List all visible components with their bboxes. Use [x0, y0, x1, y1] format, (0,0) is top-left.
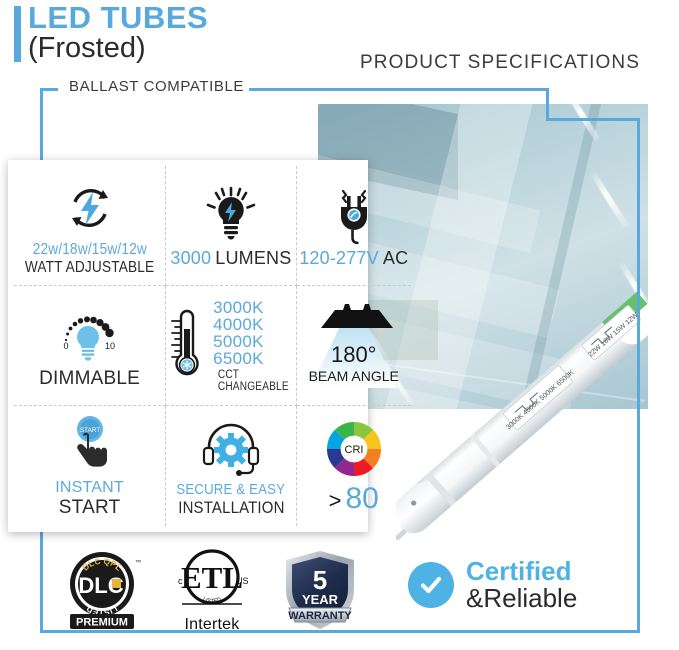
lumens-value: 3000: [170, 248, 211, 269]
installation-line2: INSTALLATION: [178, 498, 284, 518]
etl-intertek-badge: ETL c US LISTED Intertek: [166, 548, 258, 632]
beam-angle-icon: 180° BEAM ANGLE: [299, 300, 409, 392]
spec-cell-cri: CRI > 80: [297, 406, 411, 526]
spec-cell-dimmable: 0 10 DIMMABLE: [14, 286, 166, 406]
wattage-caption: WATT ADJUSTABLE: [25, 259, 154, 277]
etl-intertek-name: Intertek: [166, 616, 258, 634]
beam-angle-value: 180°: [299, 342, 409, 368]
spec-cell-installation: SECURE & EASY INSTALLATION: [166, 406, 297, 526]
etl-us-mark: US: [236, 576, 249, 586]
frame-top-right-edge: [546, 118, 640, 121]
voltage-unit: AC: [383, 248, 408, 269]
frame-top-right-tick: [546, 88, 549, 120]
dimmer-min-label: 0: [63, 341, 68, 351]
dimmer-max-label: 10: [105, 341, 115, 351]
page-title: LED TUBES: [28, 2, 208, 35]
wattage-cycle-bolt-icon: [62, 175, 118, 241]
title-accent-bar: [14, 6, 21, 62]
cct-option-1: 4000K: [213, 316, 294, 333]
certified-reliable-block: Certified &Reliable: [408, 558, 577, 611]
dimmer-bulb-icon: 0 10: [55, 302, 125, 368]
lumens-unit: LUMENS: [215, 248, 291, 269]
frame-right-edge: [637, 118, 640, 633]
spec-cell-lumens: 3000 LUMENS: [166, 166, 297, 286]
power-plug-icon: [326, 182, 382, 248]
product-specifications-header: PRODUCT SPECIFICATIONS: [360, 52, 640, 74]
specifications-card: 22w/18w/15w/12w WATT ADJUSTABLE: [8, 160, 368, 532]
voltage-value: 120-277V: [299, 248, 379, 269]
check-circle-icon: [408, 562, 454, 608]
poster-canvas: 3000K 4000K 5000K 6500K 22W 18W 15W 12W …: [0, 0, 679, 650]
cri-prefix: >: [329, 488, 342, 514]
thermometer-icon: [168, 305, 206, 386]
reliable-label: &Reliable: [466, 585, 577, 612]
cri-wheel-label: CRI: [344, 444, 363, 456]
page-subtitle: (Frosted): [28, 33, 146, 63]
etl-c-mark: c: [178, 576, 183, 586]
dlc-premium-badge: DLC QPL LISTED DLC ™ PREMIUM: [60, 548, 144, 632]
hand-press-start-icon: START: [61, 413, 119, 479]
cct-option-0: 3000K: [213, 299, 294, 316]
dlc-premium-banner: PREMIUM: [76, 617, 128, 629]
cri-value: 80: [345, 482, 378, 516]
certified-label: Certified: [466, 558, 577, 585]
frame-top-segment: [228, 88, 548, 91]
ballast-compatible-label: BALLAST COMPATIBLE: [64, 78, 249, 95]
lightbulb-bolt-icon: [203, 182, 259, 248]
etl-mark: ETL: [181, 560, 243, 595]
spec-cell-voltage: 120-277V AC: [297, 166, 411, 286]
cct-option-3: 6500K: [213, 350, 294, 367]
specifications-grid: 22w/18w/15w/12w WATT ADJUSTABLE: [14, 166, 362, 526]
instant-start-line2: START: [59, 497, 121, 519]
spec-cell-wattage: 22w/18w/15w/12w WATT ADJUSTABLE: [14, 166, 166, 286]
warranty-banner: WARRANTY: [288, 610, 352, 622]
warranty-shield-badge: 5 YEAR WARRANTY: [280, 548, 360, 632]
frame-top-left-stub: [40, 88, 58, 91]
cct-options-list: 3000K 4000K 5000K 6500K: [213, 299, 294, 367]
spec-cell-beam-angle: 180° BEAM ANGLE: [297, 286, 411, 406]
warranty-number: 5: [313, 565, 327, 595]
certification-badges: DLC QPL LISTED DLC ™ PREMIUM ETL c US: [60, 548, 360, 632]
installation-line1: SECURE & EASY: [177, 481, 286, 498]
dlc-trademark: ™: [135, 559, 141, 566]
spec-cell-instant-start: START INSTANT START: [14, 406, 166, 526]
instant-start-line1: INSTANT: [55, 479, 124, 497]
start-button-label: START: [79, 427, 99, 434]
cct-option-2: 5000K: [213, 333, 294, 350]
wattage-values: 22w/18w/15w/12w: [32, 241, 146, 259]
beam-angle-caption: BEAM ANGLE: [299, 368, 409, 384]
spec-cell-cct: 3000K 4000K 5000K 6500K CCT CHANGEABLE: [166, 286, 297, 406]
cri-color-wheel-icon: CRI: [323, 416, 385, 482]
warranty-unit: YEAR: [302, 592, 339, 607]
headset-gear-icon: [198, 415, 264, 481]
cct-caption: CCT CHANGEABLE: [218, 369, 289, 393]
dimmable-caption: DIMMABLE: [39, 368, 140, 390]
